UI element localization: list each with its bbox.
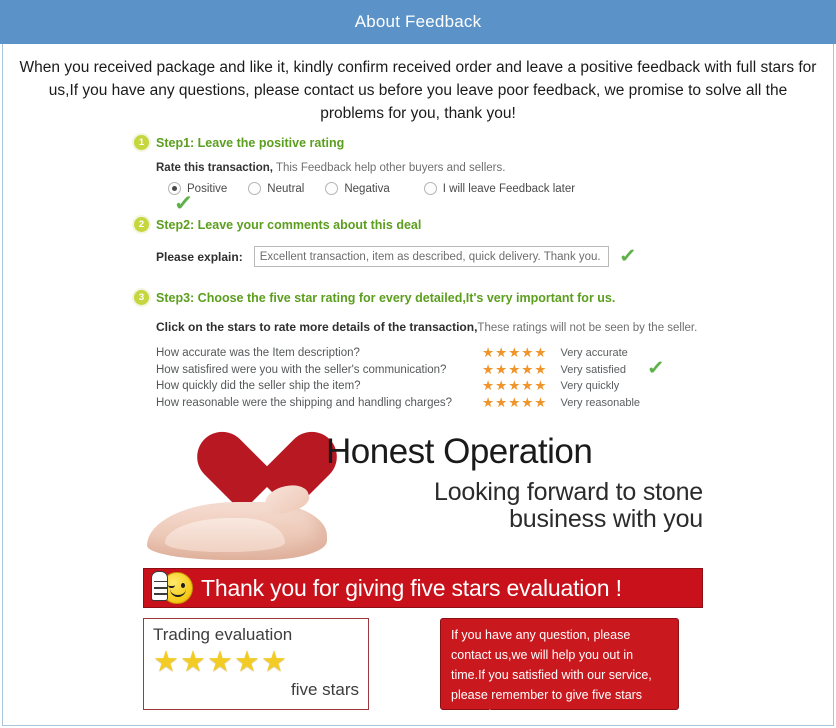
rating-row: ★★★★★ Very quickly (482, 378, 640, 395)
page-title: About Feedback (355, 12, 482, 32)
smiley-mouth (170, 589, 186, 597)
intro-paragraph: When you received package and like it, k… (17, 56, 819, 125)
rating-stars[interactable]: ★★★★★ (482, 395, 548, 412)
palm-shape (147, 502, 327, 560)
step1-title: Step1: Leave the positive rating (156, 136, 344, 150)
rating-label: Very reasonable (561, 395, 641, 412)
page-header: About Feedback (0, 0, 836, 44)
ratings-question-column: How accurate was the Item description? H… (156, 345, 466, 411)
honest-subtitle-line2: business with you (326, 504, 703, 535)
rating-radio-group: Positive Neutral Negativa I will leave F… (156, 182, 833, 195)
banner-text: Thank you for giving five stars evaluati… (201, 575, 622, 602)
step3-body: Click on the stars to rate more details … (134, 320, 833, 411)
steps-container: 1 Step1: Leave the positive rating Rate … (3, 135, 833, 411)
rating-row: ★★★★★ Very accurate (482, 345, 640, 362)
rate-transaction-label: Rate this transaction, (156, 162, 273, 174)
heart-in-hand-icon (143, 430, 333, 560)
rating-row: ★★★★★ Very satisfied (482, 362, 640, 379)
radio-later-label: I will leave Feedback later (443, 183, 575, 195)
rating-question: How reasonable were the shipping and han… (156, 395, 466, 412)
step3-subtitle: Click on the stars to rate more details … (156, 320, 833, 334)
explain-label: Please explain: (156, 250, 243, 264)
radio-option-later[interactable]: I will leave Feedback later (424, 182, 575, 195)
step2-title: Step2: Leave your comments about this de… (156, 218, 421, 232)
promo-block: Honest Operation Looking forward to ston… (143, 430, 703, 710)
rating-row: ★★★★★ Very reasonable (482, 395, 640, 412)
rate-transaction-hint: This Feedback help other buyers and sell… (273, 162, 505, 174)
check-mark-icon-step1: ✓ (174, 193, 194, 214)
step1-body: Rate this transaction, This Feedback hel… (134, 162, 833, 195)
radio-neutral-label: Neutral (267, 183, 304, 195)
step1-badge: 1 (134, 135, 149, 150)
detailed-ratings-table: How accurate was the Item description? H… (156, 345, 833, 411)
step3-badge: 3 (134, 290, 149, 305)
rating-stars[interactable]: ★★★★★ (482, 345, 548, 362)
radio-option-negative[interactable]: Negativa (325, 182, 389, 195)
explain-row: Please explain: ✓ (156, 246, 833, 267)
radio-negative-label: Negativa (344, 183, 389, 195)
contact-note-box: If you have any question, please contact… (440, 618, 679, 710)
winking-smiley-thumbs-up-icon (149, 570, 193, 606)
rating-label: Very quickly (561, 378, 620, 395)
step2-body: Please explain: ✓ (134, 246, 833, 267)
rating-question: How quickly did the seller ship the item… (156, 378, 466, 395)
step1-header: 1 Step1: Leave the positive rating (134, 135, 833, 150)
rate-transaction-line: Rate this transaction, This Feedback hel… (156, 162, 833, 174)
thank-you-banner: Thank you for giving five stars evaluati… (143, 568, 703, 608)
radio-neutral-icon[interactable] (248, 182, 261, 195)
explain-input[interactable] (254, 246, 609, 267)
rating-stars[interactable]: ★★★★★ (482, 378, 548, 395)
rating-stars[interactable]: ★★★★★ (482, 362, 548, 379)
step2-badge: 2 (134, 217, 149, 232)
rating-question: How satisfired were you with the seller'… (156, 362, 466, 379)
step3-title: Step3: Choose the five star rating for e… (156, 291, 615, 305)
trading-evaluation-footer: five stars (153, 680, 359, 700)
step2-header: 2 Step2: Leave your comments about this … (134, 217, 833, 232)
step3-subtitle-bold: Click on the stars to rate more details … (156, 320, 477, 334)
radio-later-icon[interactable] (424, 182, 437, 195)
trading-evaluation-box: Trading evaluation ★★★★★ five stars (143, 618, 369, 710)
honest-operation-banner: Honest Operation Looking forward to ston… (143, 430, 703, 560)
trading-evaluation-stars: ★★★★★ (153, 646, 359, 679)
rating-question: How accurate was the Item description? (156, 345, 466, 362)
radio-option-neutral[interactable]: Neutral (248, 182, 304, 195)
honest-text-group: Honest Operation Looking forward to ston… (326, 430, 703, 535)
rating-label: Very satisfied (561, 362, 626, 379)
radio-negative-icon[interactable] (325, 182, 338, 195)
step3-header: 3 Step3: Choose the five star rating for… (134, 290, 833, 305)
honest-title: Honest Operation (326, 430, 703, 474)
content-frame: When you received package and like it, k… (2, 44, 834, 726)
promo-bottom-row: Trading evaluation ★★★★★ five stars If y… (143, 618, 703, 710)
check-mark-icon-step2: ✓ (619, 247, 637, 266)
trading-evaluation-title: Trading evaluation (153, 624, 359, 645)
smiley-eye (181, 583, 185, 588)
smiley-wink-eye (168, 585, 175, 588)
step3-subtitle-rest: These ratings will not be seen by the se… (477, 322, 697, 334)
feedback-page: About Feedback When you received package… (0, 0, 836, 728)
rating-label: Very accurate (561, 345, 628, 362)
ratings-stars-column: ★★★★★ Very accurate ★★★★★ Very satisfied… (482, 345, 640, 411)
thumbs-up-icon (151, 571, 168, 601)
check-mark-icon-step3: ✓ (647, 359, 665, 378)
